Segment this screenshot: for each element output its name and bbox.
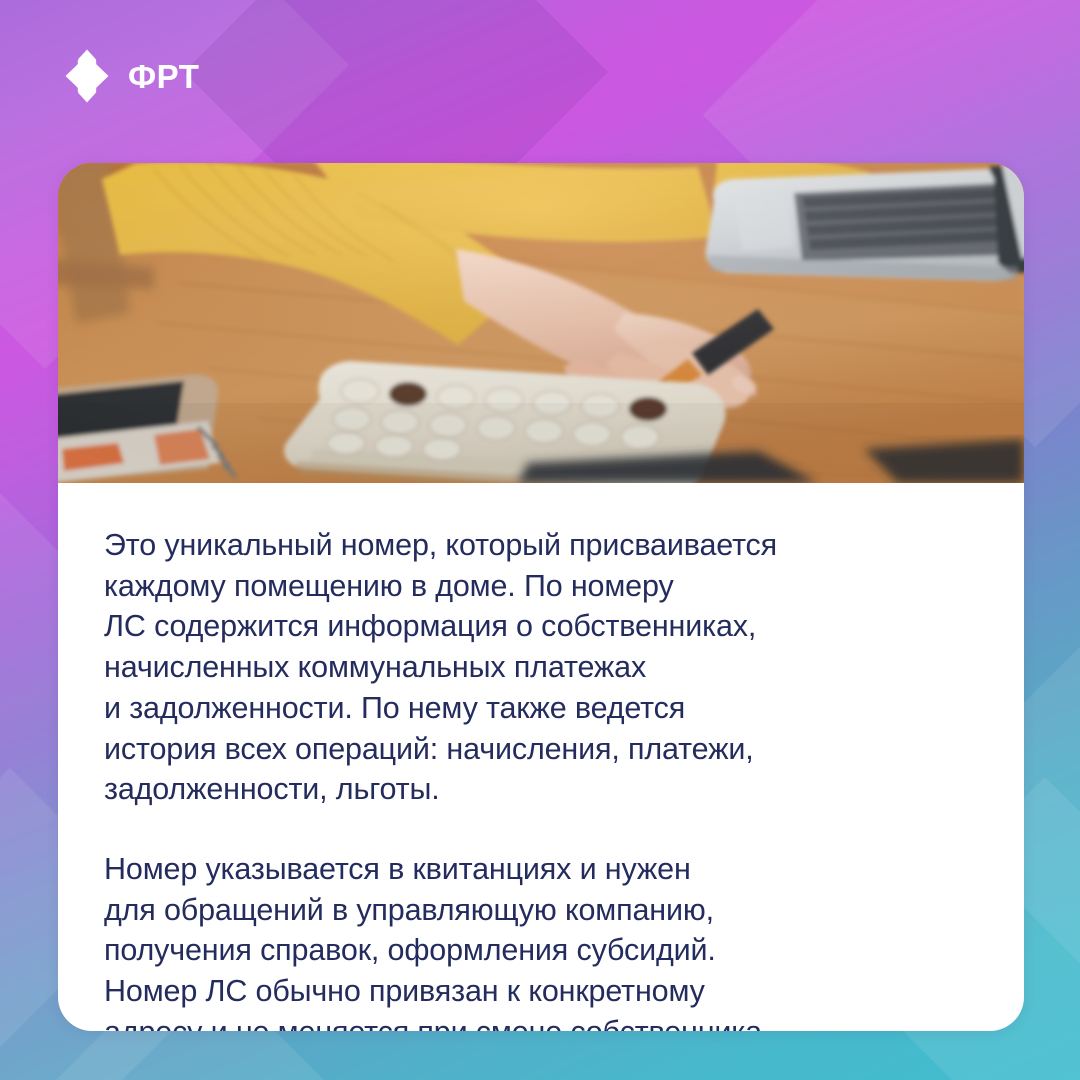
card-text-body: Это уникальный номер, который присваивае… (58, 483, 1024, 1031)
brand-logo: ФРТ (60, 48, 199, 104)
paragraph-2: Номер указывается в квитанциях и нужен д… (104, 849, 968, 1031)
header-photo (58, 163, 1024, 483)
content-card: Это уникальный номер, который присваивае… (58, 163, 1024, 1031)
slide-canvas: ФРТ (0, 0, 1080, 1080)
brand-name-label: ФРТ (128, 60, 199, 93)
frt-diamond-logo-icon (60, 48, 114, 104)
paragraph-1: Это уникальный номер, который присваивае… (104, 525, 968, 810)
